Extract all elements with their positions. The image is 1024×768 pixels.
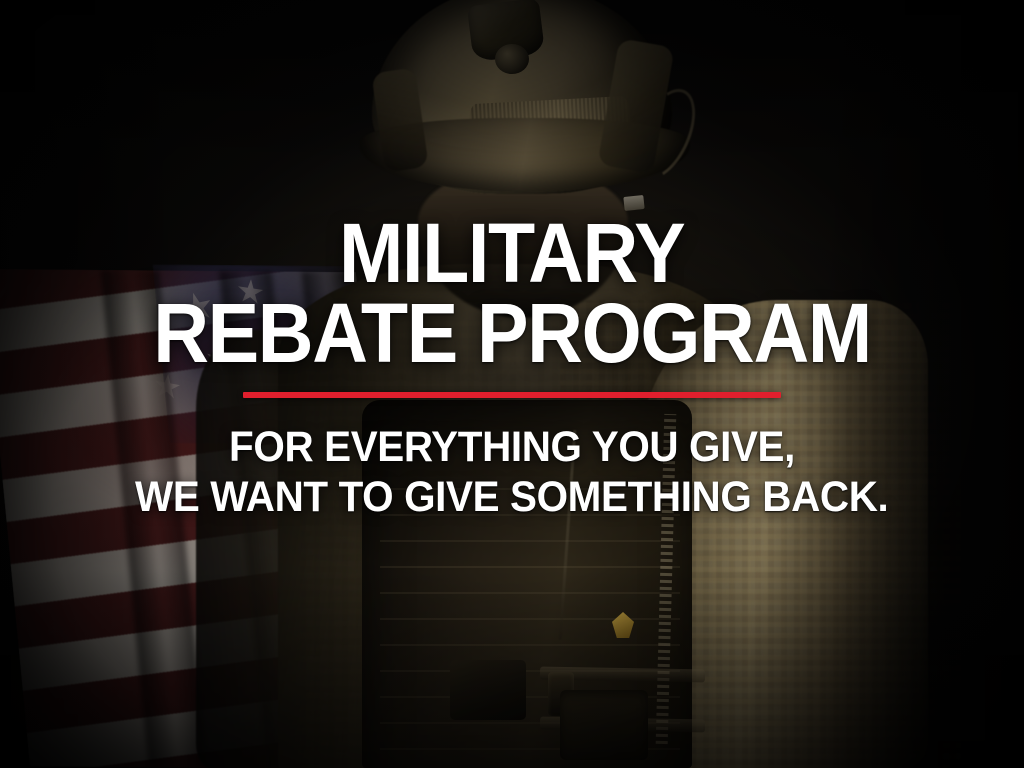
promo-banner: MILITARY REBATE PROGRAM FOR EVERYTHING Y… (0, 0, 1024, 768)
accent-divider-rule (243, 392, 781, 398)
headline-line-1: MILITARY (339, 214, 684, 292)
subheadline-line-2: WE WANT TO GIVE SOMETHING BACK. (135, 476, 888, 520)
headline-line-2: REBATE PROGRAM (153, 294, 871, 372)
subheadline-line-1: FOR EVERYTHING YOU GIVE, (229, 426, 795, 470)
banner-text-overlay: MILITARY REBATE PROGRAM FOR EVERYTHING Y… (0, 0, 1024, 768)
